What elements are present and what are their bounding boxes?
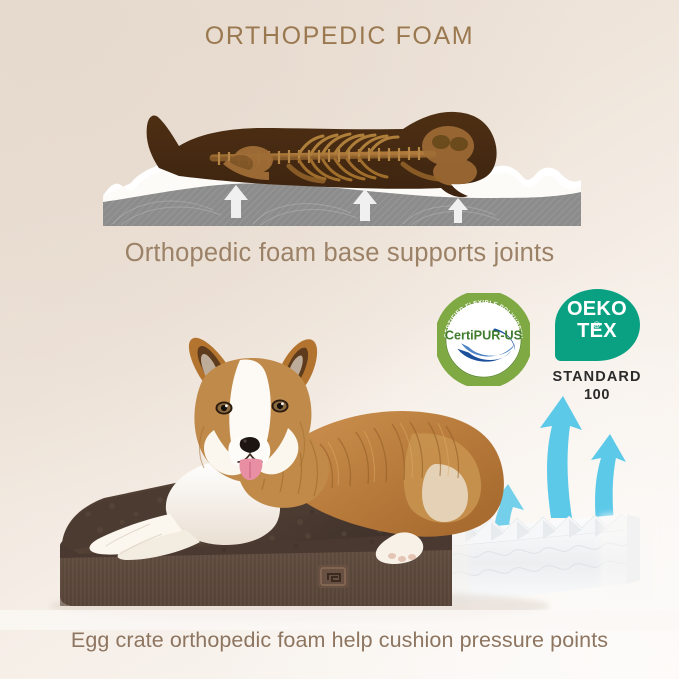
- product-photo-scene: [0, 318, 679, 630]
- page-title: ORTHOPEDIC FOAM: [0, 22, 679, 51]
- dog-eye: [272, 400, 289, 413]
- dog-eye: [216, 402, 233, 415]
- orthopedic-foam-cross-section-diagram: [103, 84, 581, 236]
- caption-orthopedic-base: Orthopedic foam base supports joints: [0, 239, 679, 268]
- brand-logo-patch: [318, 565, 348, 588]
- airflow-arrow: [540, 396, 582, 518]
- caption-egg-crate-foam: Egg crate orthopedic foam help cushion p…: [0, 628, 679, 653]
- product-infographic: ORTHOPEDIC FOAM: [0, 0, 679, 679]
- airflow-arrow: [591, 434, 626, 524]
